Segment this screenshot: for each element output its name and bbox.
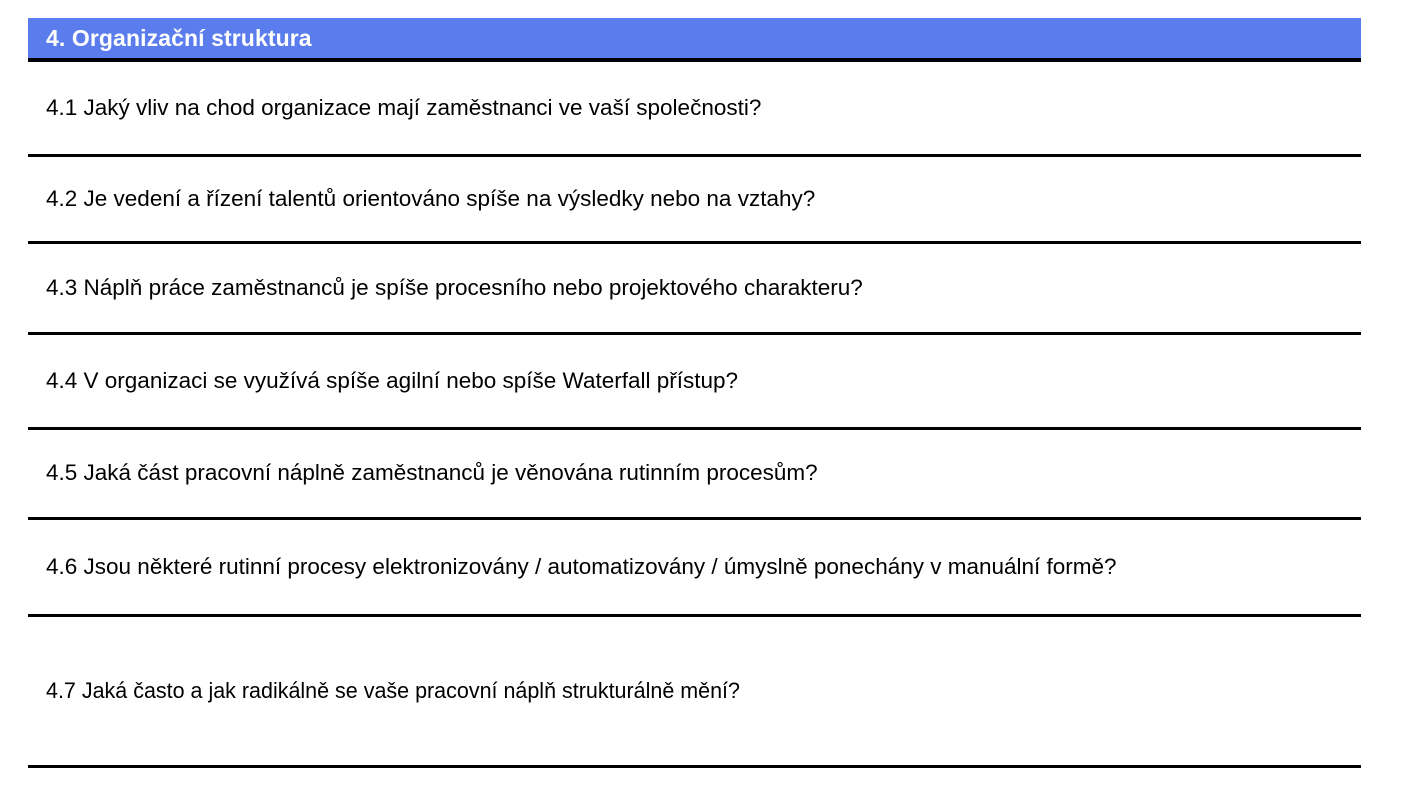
section-title: 4. Organizační struktura [28,18,1361,60]
question-text-4-7-inner: 4.7 Jaká často a jak radikálně se vaše p… [46,676,1292,706]
question-row-4-5: 4.5 Jaká část pracovní náplně zaměstnanc… [28,428,1361,518]
question-text-4-7: 4.7 Jaká často a jak radikálně se vaše p… [28,615,1361,766]
question-text-4-1: 4.1 Jaký vliv na chod organizace mají za… [28,60,1361,155]
question-row-4-8: 4.8 Souhlasíte s tvrzením, že díky digit… [28,766,1361,811]
question-text-4-5: 4.5 Jaká část pracovní náplně zaměstnanc… [28,428,1361,518]
question-row-4-6: 4.6 Jsou některé rutinní procesy elektro… [28,518,1361,615]
question-row-4-4: 4.4 V organizaci se využívá spíše agilní… [28,333,1361,428]
question-row-4-1: 4.1 Jaký vliv na chod organizace mají za… [28,60,1361,155]
question-row-4-7: 4.7 Jaká často a jak radikálně se vaše p… [28,615,1361,766]
question-text-4-8: 4.8 Souhlasíte s tvrzením, že díky digit… [28,766,1361,811]
questionnaire-section-table: 4. Organizační struktura 4.1 Jaký vliv n… [28,18,1361,811]
question-text-4-3: 4.3 Náplň práce zaměstnanců je spíše pro… [28,242,1361,333]
question-row-4-2: 4.2 Je vedení a řízení talentů orientová… [28,155,1361,242]
question-row-4-3: 4.3 Náplň práce zaměstnanců je spíše pro… [28,242,1361,333]
section-header-row: 4. Organizační struktura [28,18,1361,60]
question-text-4-4: 4.4 V organizaci se využívá spíše agilní… [28,333,1361,428]
question-text-4-2: 4.2 Je vedení a řízení talentů orientová… [28,155,1361,242]
page-root: 4. Organizační struktura 4.1 Jaký vliv n… [0,0,1403,811]
question-text-4-6: 4.6 Jsou některé rutinní procesy elektro… [28,518,1361,615]
